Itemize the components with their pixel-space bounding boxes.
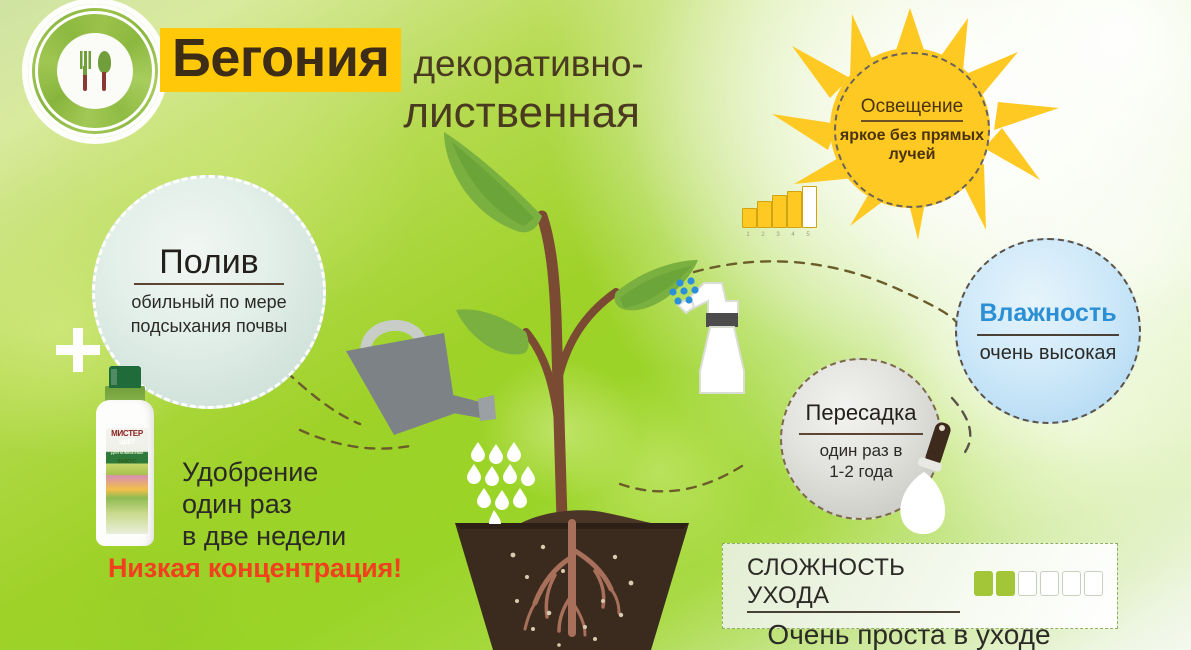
lighting-body: яркое без прямых лучей: [836, 126, 988, 164]
lighting-info-circle: Освещение яркое без прямых лучей: [834, 52, 990, 208]
light-tick-1: 1: [741, 232, 755, 238]
repotting-body-line2: 1-2 года: [829, 461, 893, 482]
care-difficulty-value: Очень проста в уходе: [747, 619, 1103, 650]
brand-logo: [28, 4, 162, 138]
lighting-title: Освещение: [861, 96, 963, 122]
garden-fork-icon: [80, 51, 91, 91]
spray-bottle-icon: [660, 275, 770, 400]
bottle-cap: [109, 366, 141, 388]
rating-square-6: [1084, 571, 1103, 596]
flower-pot-with-roots-icon: [455, 505, 689, 650]
watering-divider: [134, 283, 284, 285]
rating-square-2: [996, 571, 1015, 596]
humidity-info-circle: Влажность очень высокая: [955, 238, 1141, 424]
fertilizer-text-line3: в две недели: [182, 520, 346, 552]
concentration-warning: Низкая концентрация!: [108, 553, 402, 584]
fertilizer-text: Удобрение один раз в две недели: [182, 456, 346, 552]
watering-title: Полив: [159, 246, 259, 282]
bottle-label: МИСТЕР ЦВЕТ для комнатных ФИКУС: [106, 428, 148, 534]
bottle-label-line3: для комнатных: [106, 450, 148, 456]
rating-square-4: [1040, 571, 1059, 596]
infographic-canvas: Бегониядекоративно- лиственная Освещ: [0, 0, 1191, 650]
bottle-label-line2: ЦВЕТ: [106, 440, 148, 446]
fertilizer-text-line1: Удобрение: [182, 456, 346, 488]
bottle-label-line4: ФИКУС: [106, 459, 148, 465]
trowel-glyph-icon: [98, 51, 111, 91]
rating-square-3: [1018, 571, 1037, 596]
fertilizer-bottle-icon: МИСТЕР ЦВЕТ для комнатных ФИКУС: [88, 366, 162, 546]
fork-and-trowel-icon: [57, 33, 133, 109]
rating-square-5: [1062, 571, 1081, 596]
light-bar-5: [802, 186, 817, 228]
light-tick-2: 2: [756, 232, 770, 238]
humidity-body: очень высокая: [980, 341, 1117, 366]
water-drops-icon: [466, 440, 542, 524]
rating-square-1: [974, 571, 993, 596]
light-tick-3: 3: [771, 232, 785, 238]
bottle-label-line1: МИСТЕР: [106, 429, 148, 438]
humidity-divider: [977, 334, 1119, 336]
light-bar-1: [742, 208, 757, 228]
watering-body: обильный по мере подсыхания почвы: [109, 290, 310, 338]
light-tick-5: 5: [801, 232, 815, 238]
trowel-icon: [890, 420, 970, 540]
light-bar-3: [772, 195, 787, 228]
light-bar-4: [787, 191, 802, 228]
humidity-title: Влажность: [979, 297, 1116, 333]
fertilizer-text-line2: один раз: [182, 488, 346, 520]
light-level-scale: 1 2 3 4 5: [740, 188, 822, 240]
care-difficulty-panel: СЛОЖНОСТЬ УХОДА Очень проста в уходе: [722, 543, 1118, 629]
plant-name: Бегония: [160, 28, 401, 92]
watering-can-icon: [338, 315, 508, 450]
light-tick-4: 4: [786, 232, 800, 238]
care-difficulty-rating: [974, 571, 1103, 596]
care-difficulty-label: СЛОЖНОСТЬ УХОДА: [747, 554, 960, 613]
light-bar-2: [757, 201, 772, 228]
plant-type-line1: декоративно-: [413, 44, 643, 84]
